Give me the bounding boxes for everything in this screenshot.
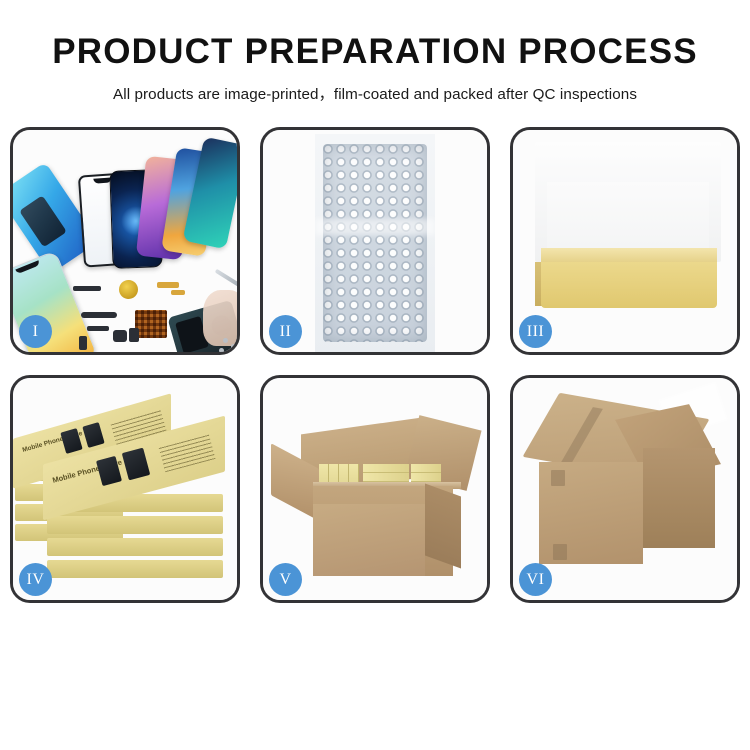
inner-yellow-box-5 — [363, 464, 409, 473]
page-subtitle: All products are image-printed，film-coat… — [0, 82, 750, 104]
tweezers-icon — [215, 269, 237, 291]
carton-tab-upper — [551, 470, 565, 486]
inner-yellow-box-9 — [411, 464, 441, 473]
inner-yellow-box-10 — [411, 473, 441, 482]
bubble-wrap-icon — [323, 144, 427, 342]
screw-icon-3 — [219, 348, 224, 352]
hand-icon — [203, 290, 237, 346]
step-badge-6: VI — [519, 563, 552, 596]
flex-cable-lower-icon — [87, 326, 109, 331]
phone-notch-front-icon — [15, 260, 40, 274]
process-step-panel-3: III — [510, 127, 740, 355]
spare-parts-group — [73, 278, 237, 352]
box-tray-icon — [541, 260, 717, 308]
flex-cable-top-icon — [157, 282, 179, 288]
carton-tab-lower — [553, 544, 567, 560]
step-badge-2: II — [269, 315, 302, 348]
flex-cable-right-icon — [171, 290, 185, 295]
process-step-panel-5: V — [260, 375, 490, 603]
stacked-box-front-5 — [47, 560, 223, 578]
process-step-grid: I II III — [10, 127, 740, 603]
speaker-mesh-icon — [73, 286, 101, 291]
page-title: PRODUCT PREPARATION PROCESS — [0, 34, 750, 69]
step-badge-5: V — [269, 563, 302, 596]
phone-notch-icon — [93, 177, 111, 183]
carton-front-face — [313, 504, 425, 576]
camera-module-icon — [113, 330, 127, 342]
screw-icon-1 — [223, 338, 228, 343]
vibration-motor-icon — [119, 280, 138, 299]
step-badge-1: I — [19, 315, 52, 348]
step-badge-3: III — [519, 315, 552, 348]
stacked-box-front-3 — [47, 516, 223, 534]
process-step-panel-6: VI — [510, 375, 740, 603]
carton-right-face — [425, 483, 461, 568]
product-preparation-infographic: PRODUCT PREPARATION PROCESS All products… — [0, 0, 750, 750]
inner-yellow-box-6 — [363, 473, 409, 482]
screw-icon-2 — [231, 344, 236, 349]
stacked-box-front-4 — [47, 538, 223, 556]
step-badge-4: IV — [19, 563, 52, 596]
sealed-carton-side-face — [643, 448, 715, 548]
process-step-panel-1: I — [10, 127, 240, 355]
battery-connector-icon — [129, 328, 139, 342]
header: PRODUCT PREPARATION PROCESS All products… — [0, 0, 750, 104]
flex-cable-left-icon — [81, 312, 117, 318]
connector-grid-icon — [135, 310, 167, 338]
process-step-panel-2: II — [260, 127, 490, 355]
bubble-wrap-sheen — [315, 219, 435, 235]
process-step-panel-4: Mobile Phone Spare Parts Mobile Phone Sp… — [10, 375, 240, 603]
sim-tray-icon — [79, 336, 87, 350]
